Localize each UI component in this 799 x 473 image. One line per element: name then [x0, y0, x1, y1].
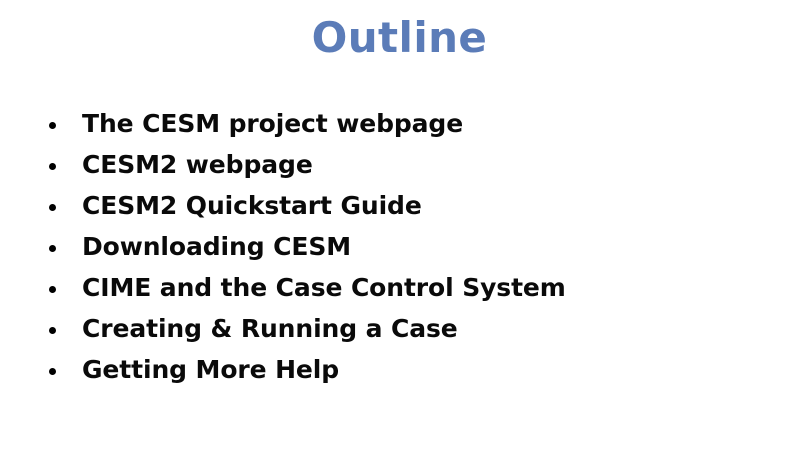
- presentation-slide: Outline The CESM project webpage CESM2 w…: [0, 0, 799, 473]
- bullet-point-icon: [49, 286, 56, 293]
- list-item-label: CIME and the Case Control System: [82, 274, 566, 303]
- bullet-point-icon: [49, 327, 56, 334]
- list-item: CESM2 Quickstart Guide: [44, 186, 764, 227]
- bullet-point-icon: [49, 245, 56, 252]
- list-item-label: Getting More Help: [82, 356, 339, 385]
- list-item: The CESM project webpage: [44, 104, 764, 145]
- bullet-point-icon: [49, 122, 56, 129]
- outline-bullet-list: The CESM project webpage CESM2 webpage C…: [44, 104, 764, 391]
- list-item-label: CESM2 webpage: [82, 151, 313, 180]
- list-item-label: Downloading CESM: [82, 233, 351, 262]
- page-title: Outline: [0, 14, 799, 61]
- list-item: Creating & Running a Case: [44, 309, 764, 350]
- list-item: Getting More Help: [44, 350, 764, 391]
- bullet-point-icon: [49, 163, 56, 170]
- list-item-label: CESM2 Quickstart Guide: [82, 192, 422, 221]
- bullet-point-icon: [49, 368, 56, 375]
- list-item-label: Creating & Running a Case: [82, 315, 458, 344]
- list-item: Downloading CESM: [44, 227, 764, 268]
- list-item: CESM2 webpage: [44, 145, 764, 186]
- bullet-point-icon: [49, 204, 56, 211]
- list-item: CIME and the Case Control System: [44, 268, 764, 309]
- list-item-label: The CESM project webpage: [82, 110, 463, 139]
